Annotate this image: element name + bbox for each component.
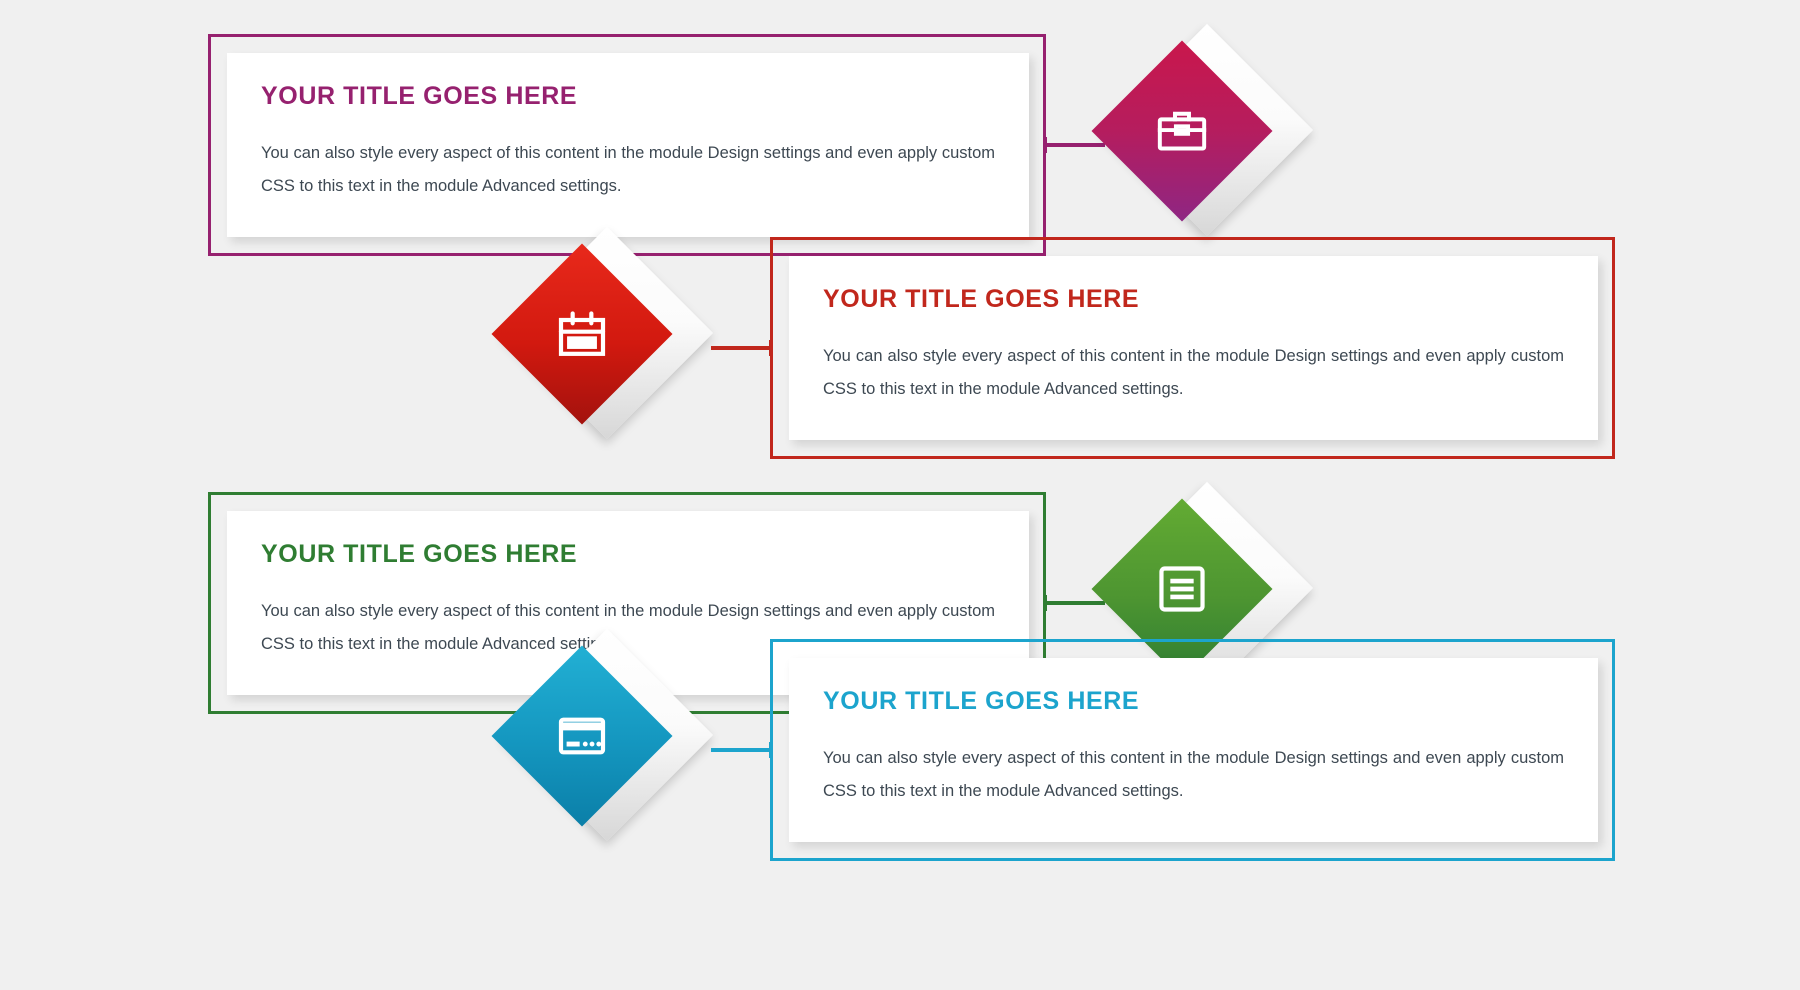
row-2-body: You can also style every aspect of this … bbox=[823, 340, 1564, 406]
row-4-card: YOUR TITLE GOES HERE You can also style … bbox=[789, 658, 1598, 842]
row-4-title: YOUR TITLE GOES HERE bbox=[823, 688, 1564, 716]
row-2-icon-badge[interactable] bbox=[508, 248, 708, 448]
briefcase-icon bbox=[1154, 103, 1210, 159]
row-1-body: You can also style every aspect of this … bbox=[261, 137, 995, 203]
row-2-title: YOUR TITLE GOES HERE bbox=[823, 286, 1564, 314]
row-4-frame: YOUR TITLE GOES HERE You can also style … bbox=[770, 639, 1615, 861]
credit-card-icon bbox=[554, 708, 610, 764]
row-3-title: YOUR TITLE GOES HERE bbox=[261, 541, 995, 569]
row-2-frame: YOUR TITLE GOES HERE You can also style … bbox=[770, 237, 1615, 459]
row-2-connector bbox=[711, 346, 773, 350]
feature-row-4: YOUR TITLE GOES HERE You can also style … bbox=[508, 650, 1800, 850]
calendar-icon bbox=[554, 306, 610, 362]
row-1-title: YOUR TITLE GOES HERE bbox=[261, 83, 995, 111]
text-lines-icon bbox=[1154, 561, 1210, 617]
row-2-card: YOUR TITLE GOES HERE You can also style … bbox=[789, 256, 1598, 440]
row-1-icon-badge[interactable] bbox=[1108, 45, 1308, 245]
row-1-card: YOUR TITLE GOES HERE You can also style … bbox=[227, 53, 1029, 237]
feature-row-2: YOUR TITLE GOES HERE You can also style … bbox=[508, 248, 1800, 448]
page-canvas: YOUR TITLE GOES HERE You can also style … bbox=[0, 0, 1800, 990]
row-1-connector bbox=[1043, 143, 1105, 147]
row-4-connector bbox=[711, 748, 773, 752]
row-4-icon-badge[interactable] bbox=[508, 650, 708, 850]
row-1-frame: YOUR TITLE GOES HERE You can also style … bbox=[208, 34, 1046, 256]
feature-row-1: YOUR TITLE GOES HERE You can also style … bbox=[208, 45, 1308, 245]
row-3-connector bbox=[1043, 601, 1105, 605]
row-4-body: You can also style every aspect of this … bbox=[823, 742, 1564, 808]
